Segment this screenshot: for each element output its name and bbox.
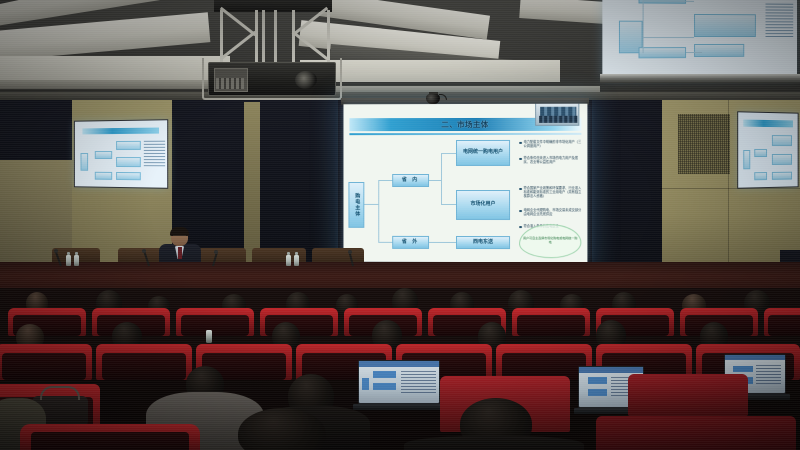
- auditorium-seat: [176, 308, 254, 336]
- diagram-connector: [378, 242, 392, 243]
- bullet-dot-icon: [519, 188, 522, 191]
- water-bottle: [286, 255, 291, 266]
- slide-bullet: 电网企业代理购电、市场交易未成交部分由电网企业托底供应: [519, 208, 581, 216]
- diagram-node-branch-provincial-outside: 省 外: [392, 236, 429, 249]
- scissor-lift-column: [262, 10, 265, 64]
- laptop-slide-titlebar: [359, 361, 439, 367]
- auditorium-seat: [0, 344, 92, 380]
- diagram-connector: [364, 204, 378, 205]
- slide-title: 二、市场主体: [441, 119, 488, 130]
- mini-node-provincial-outside: [754, 172, 767, 180]
- acoustic-perforated-panel: [678, 114, 730, 174]
- wall-display-right: [737, 111, 798, 189]
- wall-dark-section: [248, 100, 348, 272]
- diagram-connector: [441, 153, 442, 205]
- laptop-slide-box: [588, 389, 607, 396]
- diagram-connector: [378, 180, 392, 181]
- water-bottle: [66, 255, 71, 266]
- slide-divider: [349, 133, 581, 135]
- mini-bullets: [765, 3, 793, 37]
- slide-bullet: 符合条件但未进入市场的电力用户及居民、农业等公益性用户: [519, 156, 581, 164]
- microphone-head-icon: [54, 249, 58, 253]
- handbag-strap: [40, 386, 80, 400]
- bullet-dot-icon: [519, 210, 522, 213]
- mini-node-west-east: [116, 172, 140, 180]
- mini-node-market-user: [116, 157, 140, 168]
- auditorium-seat: [628, 374, 748, 416]
- laptop-slide-box: [733, 366, 752, 373]
- auditorium-seat: [20, 424, 200, 450]
- wall-display-left: [74, 119, 168, 189]
- ceiling-projector: [196, 0, 346, 112]
- diagram-connector: [429, 180, 441, 181]
- projector-keypad-icon: [216, 78, 244, 89]
- presenter-glasses-icon: [173, 235, 186, 238]
- server-rack-photo: [535, 104, 579, 126]
- laptop-base: [353, 404, 445, 410]
- mini-bullets: [144, 141, 165, 168]
- mini-node-root: [80, 153, 88, 171]
- laptop-slide-box: [373, 371, 395, 378]
- slide-bullet: 符合国家产业政策和环保要求、行业准入标准和能效标准的工业用电户（具有独立核算法人…: [519, 186, 581, 198]
- mini-node-market-user: [694, 14, 756, 37]
- water-bottle: [294, 255, 299, 266]
- slide-bullet-text: 电力配套文件中明确的非市场化用户（三公调度用户）: [524, 140, 582, 148]
- slide-bullet-text: 电网企业代理购电、市场交易未成交部分由电网企业托底供应: [524, 208, 582, 216]
- conference-hall-photo: 二、市场主体 购电主体 省 内 省 外 电网统一购电用户 市场化用户 西电东送: [0, 0, 800, 450]
- presentation-slide: 二、市场主体 购电主体 省 内 省 外 电网统一购电用户 市场化用户 西电东送: [343, 104, 587, 263]
- microphone-head-icon: [348, 250, 352, 254]
- wall-display-top-right-bezel: [600, 74, 800, 83]
- wall-panel: [244, 102, 260, 272]
- mini-title-bar: [743, 120, 793, 127]
- diagram-node-market-user: 市场化用户: [456, 190, 510, 220]
- mini-connector: [643, 37, 694, 38]
- mini-connector: [643, 0, 644, 53]
- diagram-connector: [441, 153, 456, 154]
- laptop-slide-text: [756, 365, 781, 384]
- water-bottle: [74, 255, 79, 266]
- laptop-slide-titlebar: [725, 355, 785, 360]
- slide-cloud-callout: 用户可自主选择市场化购电或电网统一购电: [519, 224, 581, 258]
- camera-cable: [439, 94, 447, 100]
- slide-cloud-text: 用户可自主选择市场化购电或电网统一购电: [523, 237, 577, 245]
- scissor-lift-column: [274, 10, 277, 64]
- laptop-screen[interactable]: [358, 360, 440, 404]
- mini-node-provincial-outside: [94, 172, 112, 179]
- auditorium-seat: [596, 416, 796, 450]
- diagram-node-branch-provincial-inside: 省 内: [392, 174, 429, 187]
- bullet-dot-icon: [519, 142, 522, 145]
- slide-bullet-text: 符合国家产业政策和环保要求、行业准入标准和能效标准的工业用电户（具有独立核算法人…: [524, 186, 582, 198]
- diagram-node-root: 购电主体: [348, 182, 364, 228]
- diagram-node-grid-unified-purchase-user: 电网统一购电用户: [456, 140, 510, 166]
- slide-bullet-text: 符合条件但未进入市场的电力用户及居民、农业等公益性用户: [524, 156, 582, 164]
- laptop-slide-box: [588, 377, 607, 383]
- laptop-slide-text: [401, 371, 436, 393]
- wall-display-top-right: [602, 0, 797, 79]
- mini-node-grid-unified: [772, 135, 792, 145]
- main-projection-screen: 二、市场主体 购电主体 省 内 省 外 电网统一购电用户 市场化用户 西电东送: [343, 104, 587, 263]
- mini-node-provincial-inside: [94, 151, 112, 159]
- bullet-dot-icon: [519, 158, 522, 161]
- camera-body-icon: [426, 94, 440, 104]
- mini-node-grid-unified: [116, 141, 140, 150]
- laptop-slide-box: [362, 378, 369, 390]
- mini-node-root: [743, 150, 750, 170]
- ceiling-camera: [424, 92, 446, 105]
- diagram-connector: [441, 204, 456, 205]
- mini-node-provincial-inside: [754, 149, 767, 157]
- laptop-slide-box: [373, 383, 395, 391]
- server-rack-photo-bottom: [539, 116, 577, 123]
- mini-node-provincial-outside: [639, 47, 687, 59]
- presenter-tie: [178, 247, 182, 259]
- auditorium-seat: [512, 308, 590, 336]
- microphone-head-icon: [214, 250, 218, 254]
- mini-connector: [686, 52, 702, 53]
- diagram-node-west-east-power-transmission: 西电东送: [456, 236, 510, 249]
- audience-area: [0, 288, 800, 450]
- slide-bullet: 电力配套文件中明确的非市场化用户（三公调度用户）: [519, 140, 581, 148]
- auditorium-seat: [96, 344, 192, 380]
- auditorium-seat: [764, 308, 800, 336]
- laptop-slide-titlebar: [579, 367, 643, 373]
- bullet-dot-icon: [519, 226, 522, 229]
- diagram-connector: [378, 180, 379, 243]
- laptop-lid: [358, 360, 440, 404]
- projector-lens-icon: [295, 71, 317, 89]
- water-bottle: [206, 330, 212, 343]
- mini-node-west-east: [694, 43, 744, 56]
- audience-shoulders: [404, 436, 584, 450]
- mini-node-market-user: [772, 154, 792, 164]
- projector-body: [208, 62, 336, 96]
- mini-title-bar: [82, 127, 160, 134]
- microphone-head-icon: [142, 249, 146, 253]
- mini-node-west-east: [772, 172, 792, 180]
- diagram-connector: [429, 242, 456, 243]
- panel-seam: [660, 188, 800, 189]
